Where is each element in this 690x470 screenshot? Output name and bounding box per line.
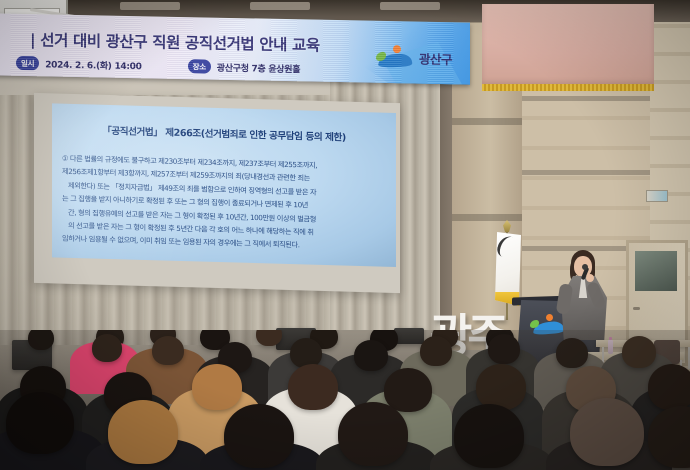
gold-fringe-trim [482,84,654,91]
audience-head [570,398,644,466]
audience-head [420,336,452,366]
banner-date-label: 일시 [16,56,39,70]
slide-line: 임하거나 임용될 수 없으며, 이미 취임 또는 임용된 자의 경우에는 그 직… [62,232,388,255]
projection-screen-frame: 「공직선거법」 제266조(선거범죄로 인한 공무담임 등의 제한) ① 다른 … [34,93,400,293]
slide-line: ① 다른 법률의 규정에도 불구하고 제230조부터 제234조까지, 제237… [62,152,388,175]
logo-text: 광산구 [419,48,452,68]
banner-place-label: 장소 [188,59,211,73]
audience-head [454,404,524,468]
banner-meta-row: 일시 2024. 2. 6.(화) 14:00 장소 광산구청 7층 윤상원홀 [16,56,300,75]
led-event-banner: | 선거 대비 광산구 직원 공직선거법 안내 교육 일시 2024. 2. 6… [0,13,470,84]
audience-head [6,392,74,454]
banner-title: | 선거 대비 광산구 직원 공직선거법 안내 교육 [30,28,320,56]
audience-head [384,368,432,412]
audience-head [556,338,588,368]
pink-valance-curtain [482,4,654,86]
banner-place-value: 광산구청 7층 윤상원홀 [217,60,300,75]
exit-sign [646,190,668,202]
slide-line: 는 그 집행을 받지 아니하기로 확정된 후 또는 그 형의 집행이 종료되거나… [62,192,388,215]
audience-head [288,364,338,410]
gwangsan-gu-logo: 광산구 [376,45,452,70]
gwangsan-emblem-icon [376,45,414,70]
audience-head [192,364,242,410]
audience-head [488,334,520,364]
audience-head [224,404,294,468]
audience-head [152,336,184,365]
microphone-head-icon [582,264,588,270]
slide-body: ① 다른 법률의 규정에도 불구하고 제230조부터 제234조까지, 제237… [62,152,388,255]
audience-head [28,330,54,350]
lecture-hall-photo: | 선거 대비 광산구 직원 공직선거법 안내 교육 일시 2024. 2. 6… [0,0,690,470]
audience-head [476,364,526,410]
door-window [635,251,677,291]
slide-title: 「공직선거법」 제266조(선거범죄로 인한 공무담임 등의 제한) [52,121,396,145]
audience-head [338,402,408,466]
audience-seating [0,330,690,470]
slide-line: 제256조제1항부터 제3항까지, 제257조부터 제259조까지의 죄(당내경… [62,165,388,188]
audience-head [622,336,656,368]
projection-screen: 「공직선거법」 제266조(선거범죄로 인한 공무담임 등의 제한) ① 다른 … [52,103,396,267]
presenter-hand [586,274,594,282]
slide-line: 제외한다) 또는 「정치자금법」 제49조의 죄를 범함으로 인하여 징역형의 … [62,178,388,201]
audience-head [92,334,122,362]
door-handle-icon[interactable] [633,307,640,310]
slide-line: 의 선고를 받은 자는 그 형이 확정된 후 5년간 다음 각 호의 어느 하나… [62,219,388,242]
banner-date-value: 2024. 2. 6.(화) 14:00 [45,57,141,72]
audience-head [354,340,388,371]
institutional-flag [495,232,521,306]
slide-line: 간, 형의 집행유예의 선고를 받은 자는 그 형이 확정된 후 10년간, 1… [62,205,388,228]
audience-head [108,400,178,464]
audience-head [648,364,690,410]
